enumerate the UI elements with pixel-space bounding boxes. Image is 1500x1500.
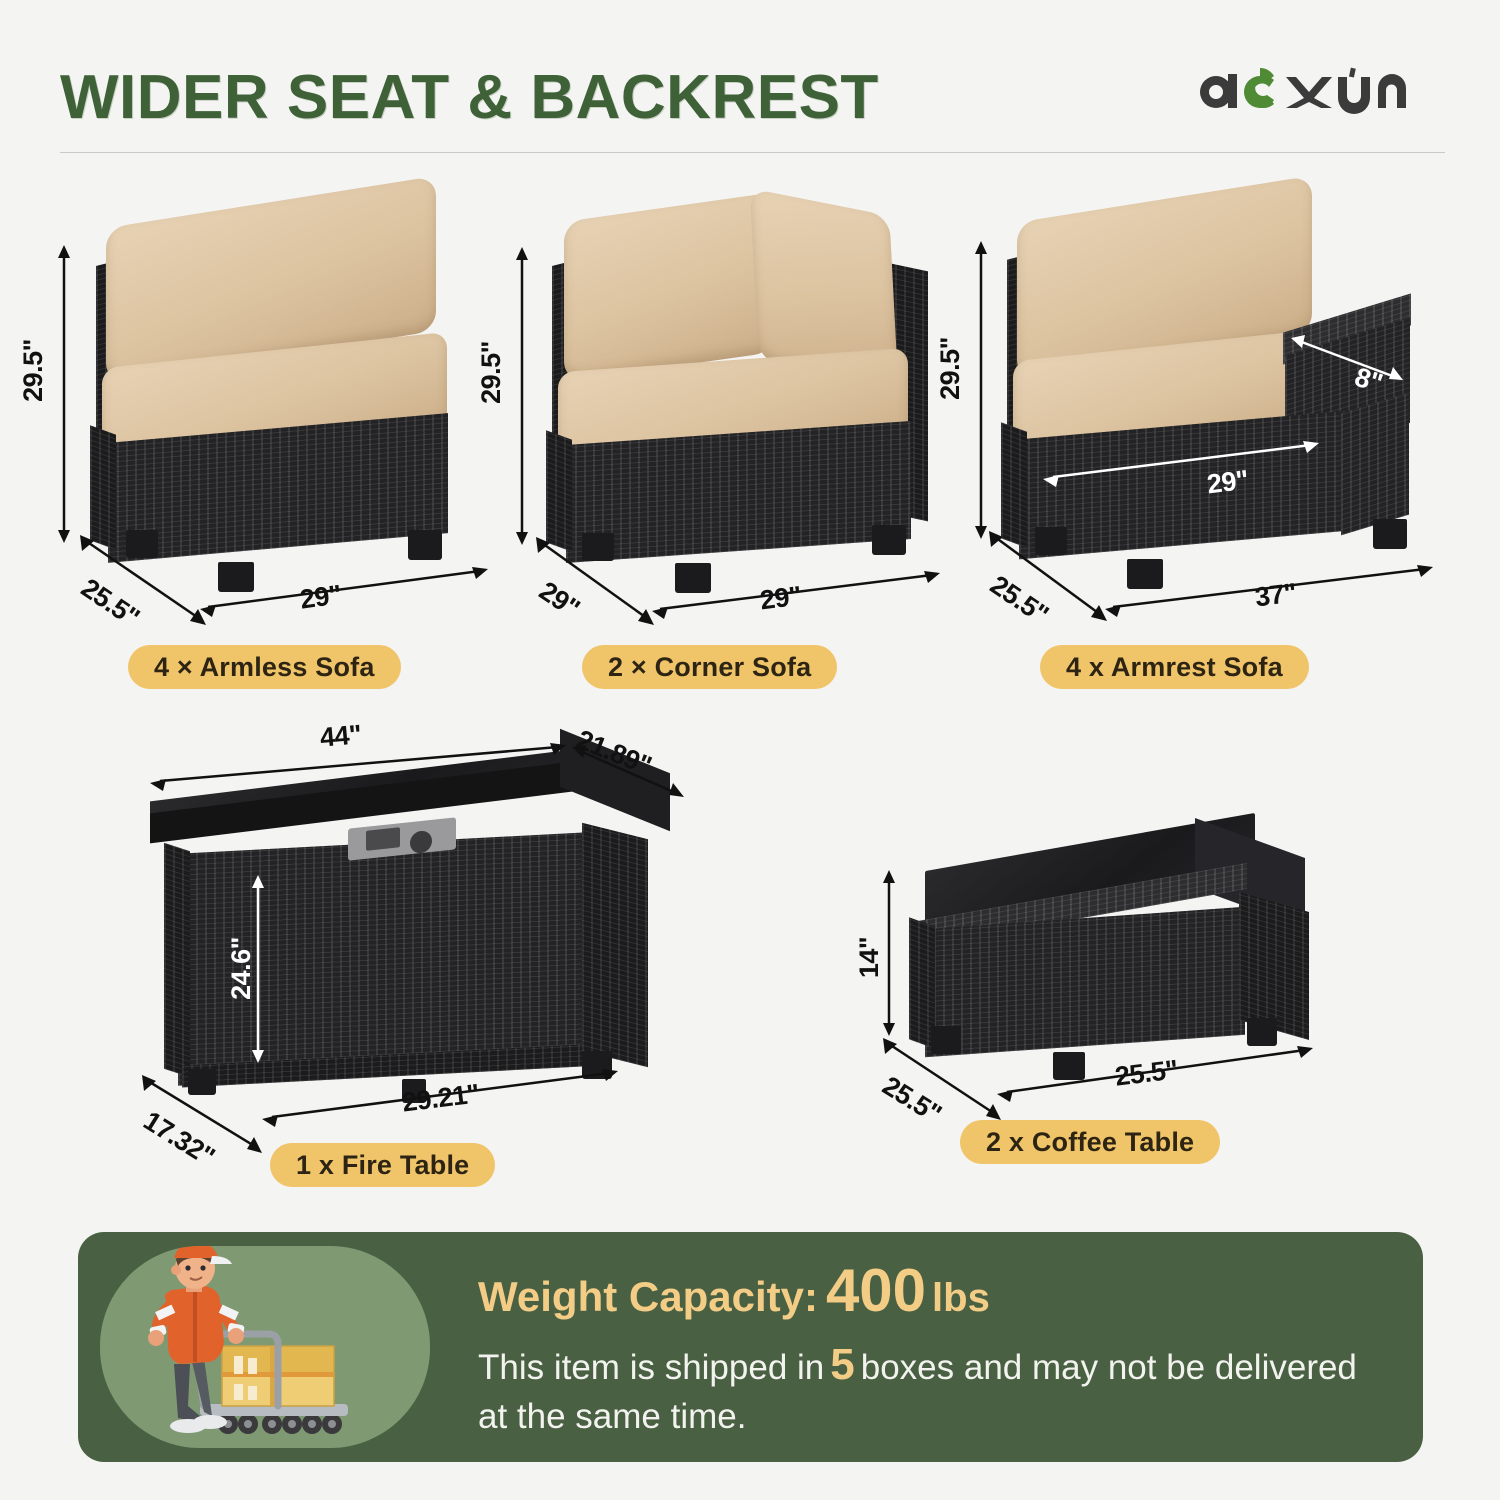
product-armrest-sofa: 29.5" 8" 29" 25.5" 37" 4 x Armrest Sofa (985, 185, 1445, 635)
dim-line-armless-width (200, 565, 490, 615)
dim-armless-width: 29" (298, 579, 343, 615)
pill-armless-sofa[interactable]: 4 × Armless Sofa (128, 645, 401, 689)
dim-armless-height: 29.5" (18, 339, 49, 402)
delivery-illustration (100, 1246, 430, 1448)
dim-armrest-height: 29.5" (935, 337, 966, 400)
shipping-banner: Weight Capacity:400lbs This item is ship… (78, 1232, 1423, 1462)
dim-line-corner-height (512, 247, 532, 547)
dim-armrest-seat-width: 29" (1205, 465, 1250, 501)
dim-line-armrest-height (971, 241, 991, 541)
shipping-box-count: 5 (824, 1340, 860, 1389)
dim-line-armrest-seat (1043, 437, 1323, 485)
header-divider (60, 152, 1445, 153)
weight-capacity-label: Weight Capacity: (478, 1273, 818, 1320)
weight-capacity-line: Weight Capacity:400lbs (478, 1256, 990, 1325)
dim-corner-height: 29.5" (476, 341, 507, 404)
aoxun-logo (1182, 58, 1442, 128)
dim-armrest-width: 37" (1253, 578, 1298, 614)
pill-corner-sofa[interactable]: 2 × Corner Sofa (582, 645, 837, 689)
pill-coffee-table[interactable]: 2 x Coffee Table (960, 1120, 1220, 1164)
product-coffee-table: 14" 25.5" 25.5" 2 x Coffee Table (865, 830, 1355, 1200)
dim-corner-width: 29" (758, 581, 803, 617)
product-fire-table: 44" 21.89" 24.6" 17.32" 29.21" 1 x Fire … (130, 725, 710, 1195)
dim-fire-top-length: 44" (319, 719, 363, 753)
pill-armrest-sofa[interactable]: 4 x Armrest Sofa (1040, 645, 1309, 689)
shipping-note: This item is shipped in5boxes and may no… (478, 1336, 1378, 1440)
page-header: WIDER SEAT & BACKREST (0, 0, 1500, 170)
weight-capacity-value: 400 (826, 1257, 926, 1324)
dim-line-armless-height (54, 245, 74, 545)
weight-capacity-unit: lbs (932, 1276, 990, 1320)
product-armless-sofa: 29.5" 25.5" 29" 4 × Armless Sofa (60, 185, 490, 635)
dim-coffee-height: 14" (854, 937, 885, 978)
product-corner-sofa: 29.5" 29" 29" 2 × Corner Sofa (520, 185, 960, 635)
dim-fire-height: 24.6" (226, 937, 257, 1000)
dim-line-armrest-arm (1291, 333, 1411, 387)
page-title: WIDER SEAT & BACKREST (60, 62, 879, 133)
pill-fire-table[interactable]: 1 x Fire Table (270, 1143, 495, 1187)
shipping-note-prefix: This item is shipped in (478, 1348, 824, 1387)
